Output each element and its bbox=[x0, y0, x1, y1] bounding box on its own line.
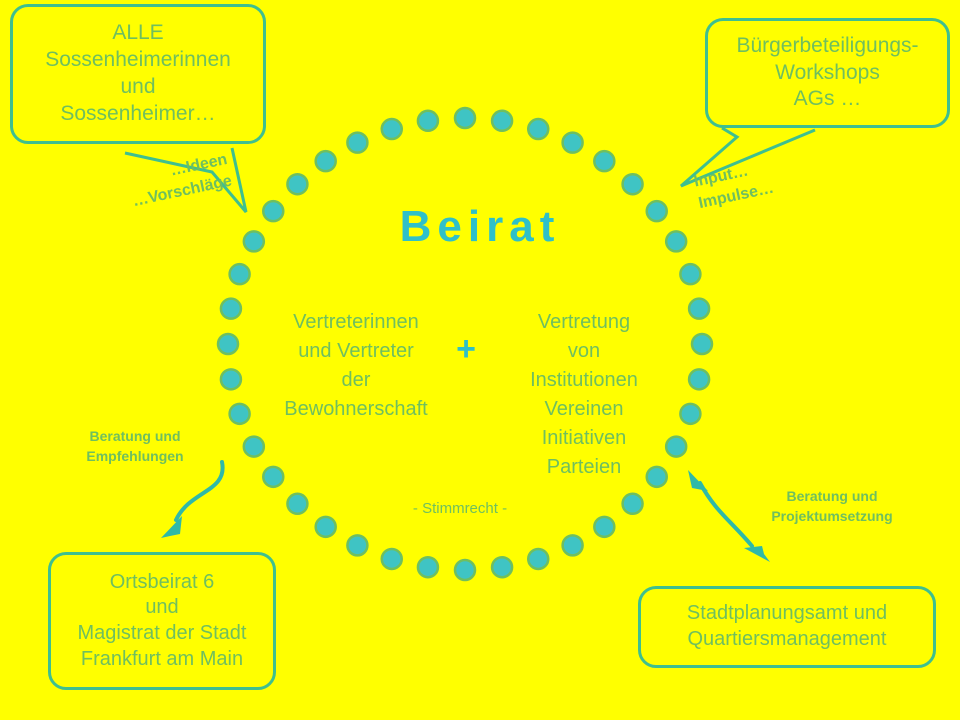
arrow-label-beratung-empfehlungen: Beratung undEmpfehlungen bbox=[60, 427, 210, 466]
arrow-label-beratung-projektumsetzung: Beratung undProjektumsetzung bbox=[742, 487, 922, 526]
circle-dot bbox=[382, 119, 402, 139]
circle-dot bbox=[218, 334, 238, 354]
circle-dot bbox=[382, 549, 402, 569]
circle-dot bbox=[347, 133, 367, 153]
circle-dot bbox=[680, 264, 700, 284]
speech-bubble-workshops-text: Bürgerbeteiligungs-WorkshopsAGs … bbox=[708, 33, 947, 114]
circle-dot bbox=[594, 151, 614, 171]
circle-dot bbox=[623, 494, 643, 514]
circle-dot bbox=[455, 108, 475, 128]
arrow-head-right-down bbox=[744, 546, 770, 562]
circle-dot bbox=[347, 535, 367, 555]
circle-dot bbox=[492, 111, 512, 131]
box-ortsbeirat-text: Ortsbeirat 6undMagistrat der StadtFrankf… bbox=[51, 570, 273, 672]
page-title: Beirat bbox=[0, 202, 960, 252]
circle-dot bbox=[230, 404, 250, 424]
circle-dot bbox=[316, 517, 336, 537]
speech-bubble-citizens-text: ALLESossenheimerinnenundSossenheimer… bbox=[13, 20, 263, 128]
arrow-head-right-up bbox=[688, 470, 708, 491]
circle-dot bbox=[221, 369, 241, 389]
center-column-residents: Vertreterinnenund VertreterderBewohnersc… bbox=[262, 308, 450, 424]
circle-dot bbox=[492, 557, 512, 577]
circle-dot bbox=[528, 549, 548, 569]
circle-dot bbox=[287, 494, 307, 514]
arrow-head-left bbox=[161, 516, 182, 538]
circle-dot bbox=[221, 299, 241, 319]
circle-dot bbox=[623, 174, 643, 194]
circle-dot bbox=[692, 334, 712, 354]
speech-bubble-citizens[interactable]: ALLESossenheimerinnenundSossenheimer… bbox=[10, 4, 266, 144]
circle-dot bbox=[689, 369, 709, 389]
center-footnote-stimmrecht: - Stimmrecht - bbox=[340, 500, 580, 517]
circle-dot bbox=[418, 557, 438, 577]
speech-bubble-workshops[interactable]: Bürgerbeteiligungs-WorkshopsAGs … bbox=[705, 18, 950, 128]
circle-dot bbox=[455, 560, 475, 580]
circle-dot bbox=[689, 299, 709, 319]
circle-dot bbox=[563, 535, 583, 555]
circle-dot bbox=[528, 119, 548, 139]
center-column-institutions: VertretungvonInstitutionenVereinenInitia… bbox=[486, 308, 682, 482]
plus-icon: + bbox=[448, 330, 484, 369]
circle-dot bbox=[680, 404, 700, 424]
box-stadtplanungsamt-quartiersmanagement[interactable]: Stadtplanungsamt undQuartiersmanagement bbox=[638, 586, 936, 668]
arrow-beratung-empfehlungen bbox=[176, 462, 223, 520]
circle-dot bbox=[230, 264, 250, 284]
circle-dot bbox=[316, 151, 336, 171]
box-stadtplanung-text: Stadtplanungsamt undQuartiersmanagement bbox=[641, 601, 933, 652]
circle-dot bbox=[594, 517, 614, 537]
circle-dot bbox=[418, 111, 438, 131]
circle-dot bbox=[563, 133, 583, 153]
box-ortsbeirat-magistrat[interactable]: Ortsbeirat 6undMagistrat der StadtFrankf… bbox=[48, 552, 276, 690]
diagram-canvas: ALLESossenheimerinnenundSossenheimer… Bü… bbox=[0, 0, 960, 720]
circle-dot bbox=[244, 437, 264, 457]
circle-dot bbox=[263, 467, 283, 487]
circle-dot bbox=[287, 174, 307, 194]
